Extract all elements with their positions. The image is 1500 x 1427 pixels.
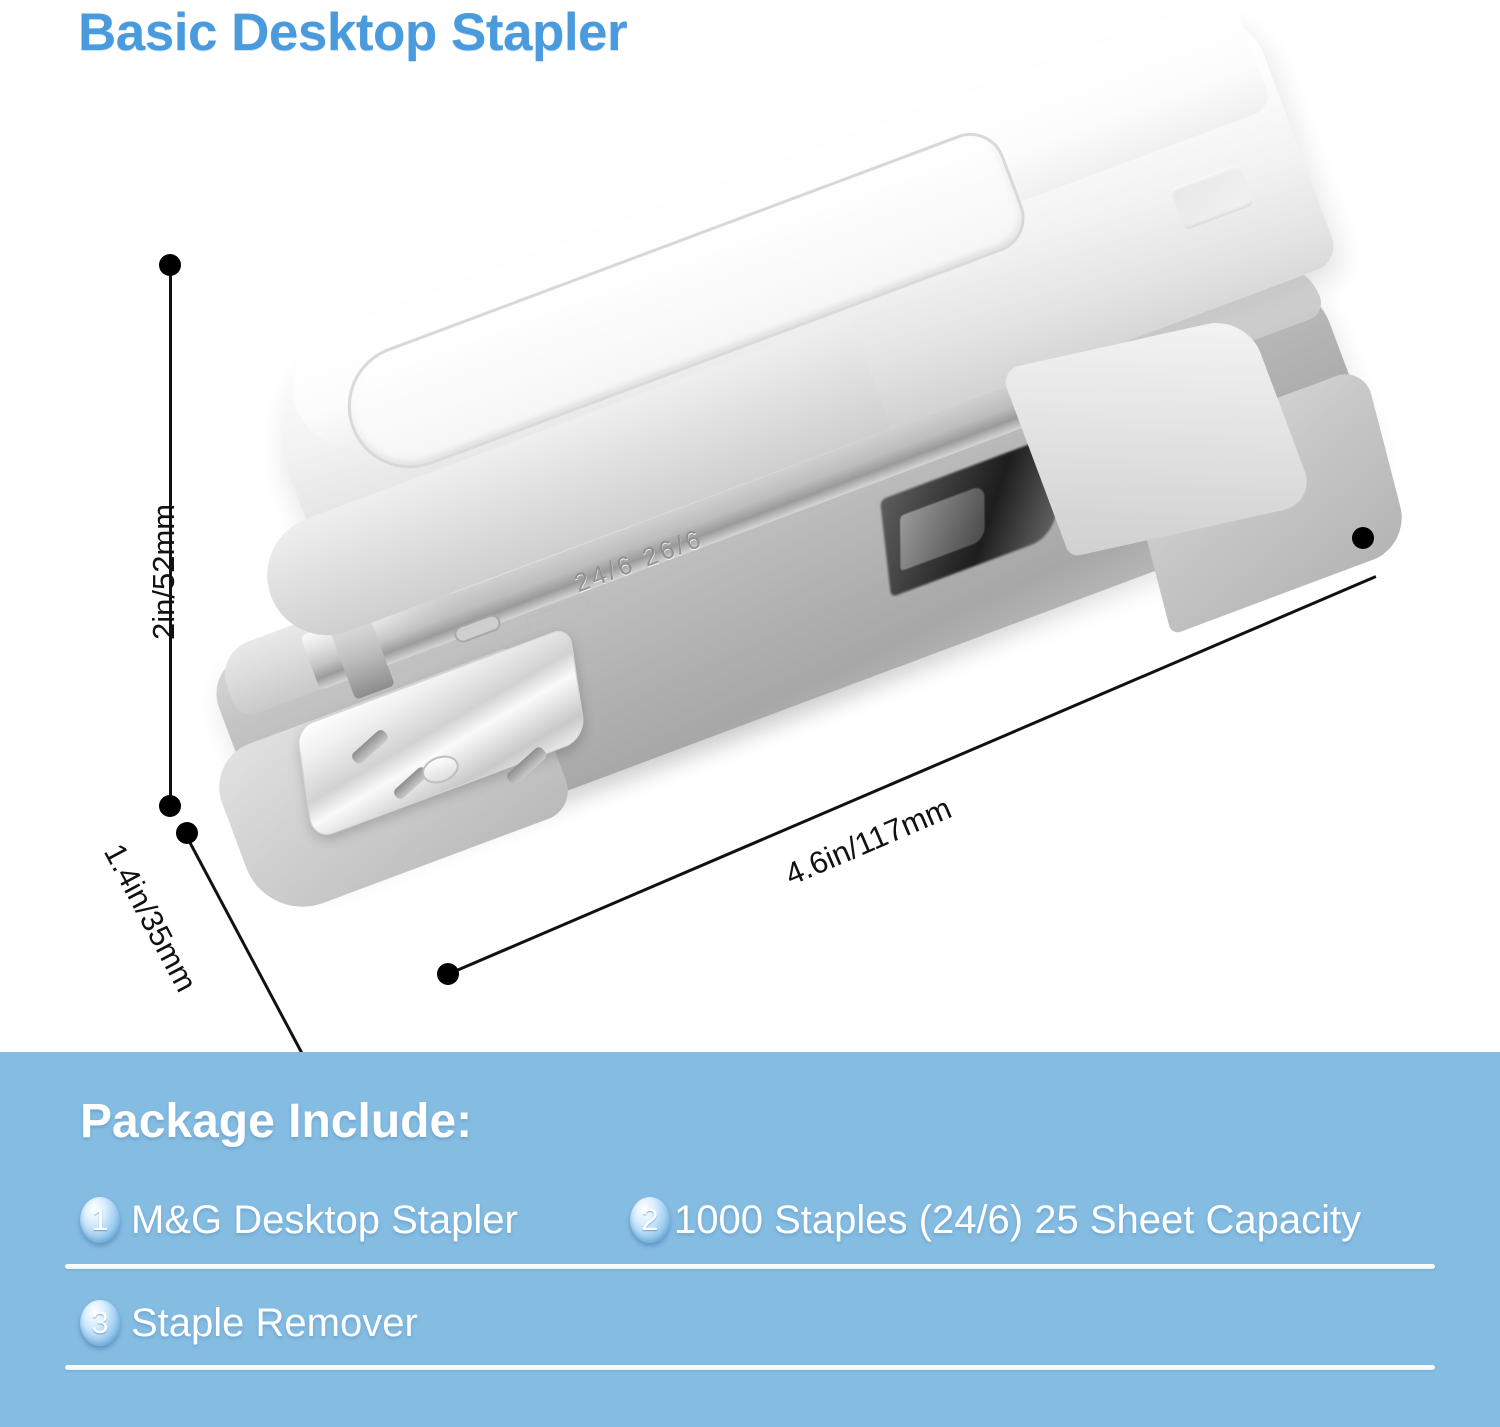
package-item-3-label: Staple Remover (131, 1301, 418, 1346)
product-photo: 24/6 26/6 2in/52mm 4.6in/117mm 1.4in/35m… (0, 70, 1500, 1050)
package-item-2-badge: 2 (630, 1197, 670, 1243)
package-item-2: 2 1000 Staples (24/6) 25 Sheet Capacity (630, 1197, 1361, 1243)
package-item-1-label: M&G Desktop Stapler (131, 1198, 518, 1243)
height-dimension-dot-top (159, 254, 181, 276)
height-dimension-label: 2in/52mm (146, 504, 182, 640)
height-dimension-dot-bottom (159, 795, 181, 817)
package-item-2-label: 1000 Staples (24/6) 25 Sheet Capacity (674, 1198, 1361, 1243)
package-item-3-badge: 3 (80, 1300, 120, 1346)
package-divider-1 (65, 1264, 1435, 1269)
length-dimension-dot-left (437, 963, 459, 985)
package-include-panel: Package Include: 1 M&G Desktop Stapler 2… (0, 1052, 1500, 1427)
stapler-illustration: 24/6 26/6 (0, 70, 1500, 1050)
package-item-1: 1 M&G Desktop Stapler (80, 1197, 518, 1243)
length-dimension-dot-right (1352, 527, 1374, 549)
page-title: Basic Desktop Stapler (78, 2, 627, 63)
package-include-heading: Package Include: (80, 1094, 472, 1149)
product-infographic: Basic Desktop Stapler 24/6 26/6 (0, 0, 1500, 1427)
package-item-1-badge: 1 (80, 1197, 120, 1243)
package-item-3: 3 Staple Remover (80, 1300, 418, 1346)
package-divider-2 (65, 1365, 1435, 1370)
depth-dimension-dot-top (176, 822, 198, 844)
